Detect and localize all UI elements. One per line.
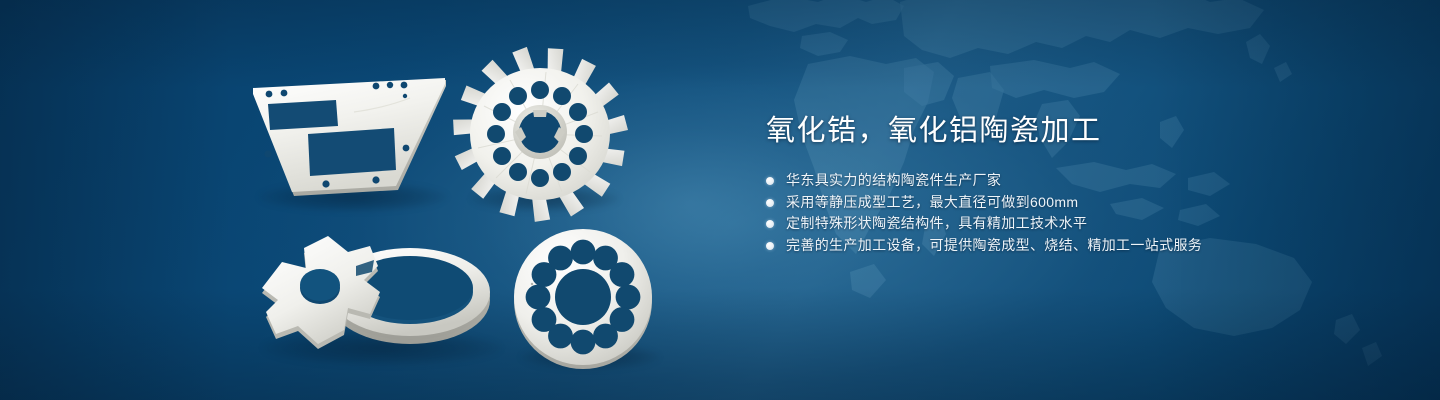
list-item: 定制特殊形状陶瓷结构件，具有精加工技术水平 <box>766 213 1386 235</box>
promo-banner: 氧化锆，氧化铝陶瓷加工 华东具实力的结构陶瓷件生产厂家 采用等静压成型工艺，最大… <box>0 0 1440 400</box>
ceramic-perforated-disc <box>508 222 658 372</box>
filled-circle-bullet-icon <box>766 242 774 250</box>
list-item-label: 采用等静压成型工艺，最大直径可做到600mm <box>786 194 1078 210</box>
list-item: 完善的生产加工设备，可提供陶瓷成型、烧结、精加工一站式服务 <box>766 235 1386 257</box>
list-item-label: 华东具实力的结构陶瓷件生产厂家 <box>786 172 1001 188</box>
filled-circle-bullet-icon <box>766 220 774 228</box>
list-item-label: 定制特殊形状陶瓷结构件，具有精加工技术水平 <box>786 215 1087 231</box>
page-title: 氧化锆，氧化铝陶瓷加工 <box>766 113 1386 149</box>
filled-circle-bullet-icon <box>766 177 774 185</box>
banner-copy: 氧化锆，氧化铝陶瓷加工 华东具实力的结构陶瓷件生产厂家 采用等静压成型工艺，最大… <box>766 113 1386 256</box>
filled-circle-bullet-icon <box>766 199 774 207</box>
feature-list: 华东具实力的结构陶瓷件生产厂家 采用等静压成型工艺，最大直径可做到600mm 定… <box>766 170 1386 256</box>
list-item-label: 完善的生产加工设备，可提供陶瓷成型、烧结、精加工一站式服务 <box>786 237 1202 253</box>
list-item: 华东具实力的结构陶瓷件生产厂家 <box>766 170 1386 192</box>
ceramic-cross-plate-and-ring <box>252 222 502 362</box>
list-item: 采用等静压成型工艺，最大直径可做到600mm <box>766 192 1386 214</box>
ceramic-impeller <box>448 46 632 224</box>
ceramic-flat-plate <box>250 78 450 198</box>
